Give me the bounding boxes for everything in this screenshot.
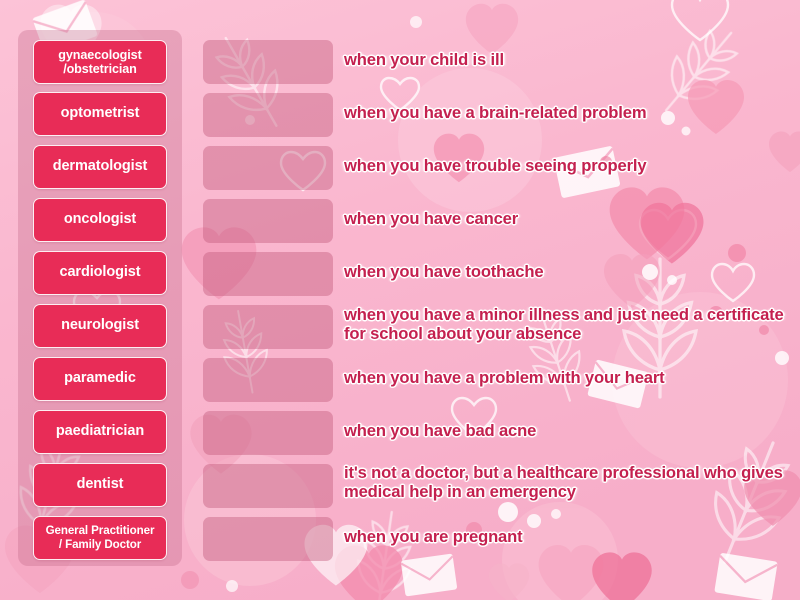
word-tile-label: neurologist [61,318,139,334]
word-tile-panel: gynaecologist/obstetricianoptometristder… [18,30,182,566]
definition-text: when you have bad acne [344,421,788,440]
word-tile-label: paramedic [64,371,136,387]
dropzone-5[interactable] [203,252,333,296]
definition-text: when you have trouble seeing properly [344,156,788,175]
definition-text: when you have cancer [344,209,788,228]
word-tile[interactable]: dermatologist [33,145,167,189]
word-tile[interactable]: General Practitioner/ Family Doctor [33,516,167,560]
dropzone-10[interactable] [203,517,333,561]
word-tile[interactable]: optometrist [33,92,167,136]
word-tile[interactable]: paramedic [33,357,167,401]
word-tile-label: optometrist [61,106,140,122]
word-tile-label: cardiologist [60,265,141,281]
definition-text: when you are pregnant [344,527,788,546]
word-tile[interactable]: oncologist [33,198,167,242]
word-tile-label: dentist [77,477,124,493]
definition-text: it's not a doctor, but a healthcare prof… [344,463,788,501]
word-tile-label: General Practitioner/ Family Doctor [46,524,155,552]
definition-text: when your child is ill [344,50,788,69]
dropzone-7[interactable] [203,358,333,402]
word-tile[interactable]: neurologist [33,304,167,348]
word-tile[interactable]: dentist [33,463,167,507]
word-tile[interactable]: paediatrician [33,410,167,454]
definition-text: when you have a brain-related problem [344,103,788,122]
dropzone-4[interactable] [203,199,333,243]
word-tile[interactable]: gynaecologist/obstetrician [33,40,167,84]
word-tile-label: oncologist [64,212,136,228]
dropzone-1[interactable] [203,40,333,84]
dropzone-8[interactable] [203,411,333,455]
dropzone-9[interactable] [203,464,333,508]
word-tile-label: dermatologist [53,159,148,175]
word-tile-label: paediatrician [56,424,144,440]
definition-text: when you have toothache [344,262,788,281]
activity-stage: gynaecologist/obstetricianoptometristder… [0,0,800,600]
word-tile[interactable]: cardiologist [33,251,167,295]
definition-text: when you have a minor illness and just n… [344,305,788,343]
dropzone-6[interactable] [203,305,333,349]
dropzone-2[interactable] [203,93,333,137]
definition-text: when you have a problem with your heart [344,368,788,387]
dropzone-3[interactable] [203,146,333,190]
word-tile-label: gynaecologist/obstetrician [58,48,141,77]
